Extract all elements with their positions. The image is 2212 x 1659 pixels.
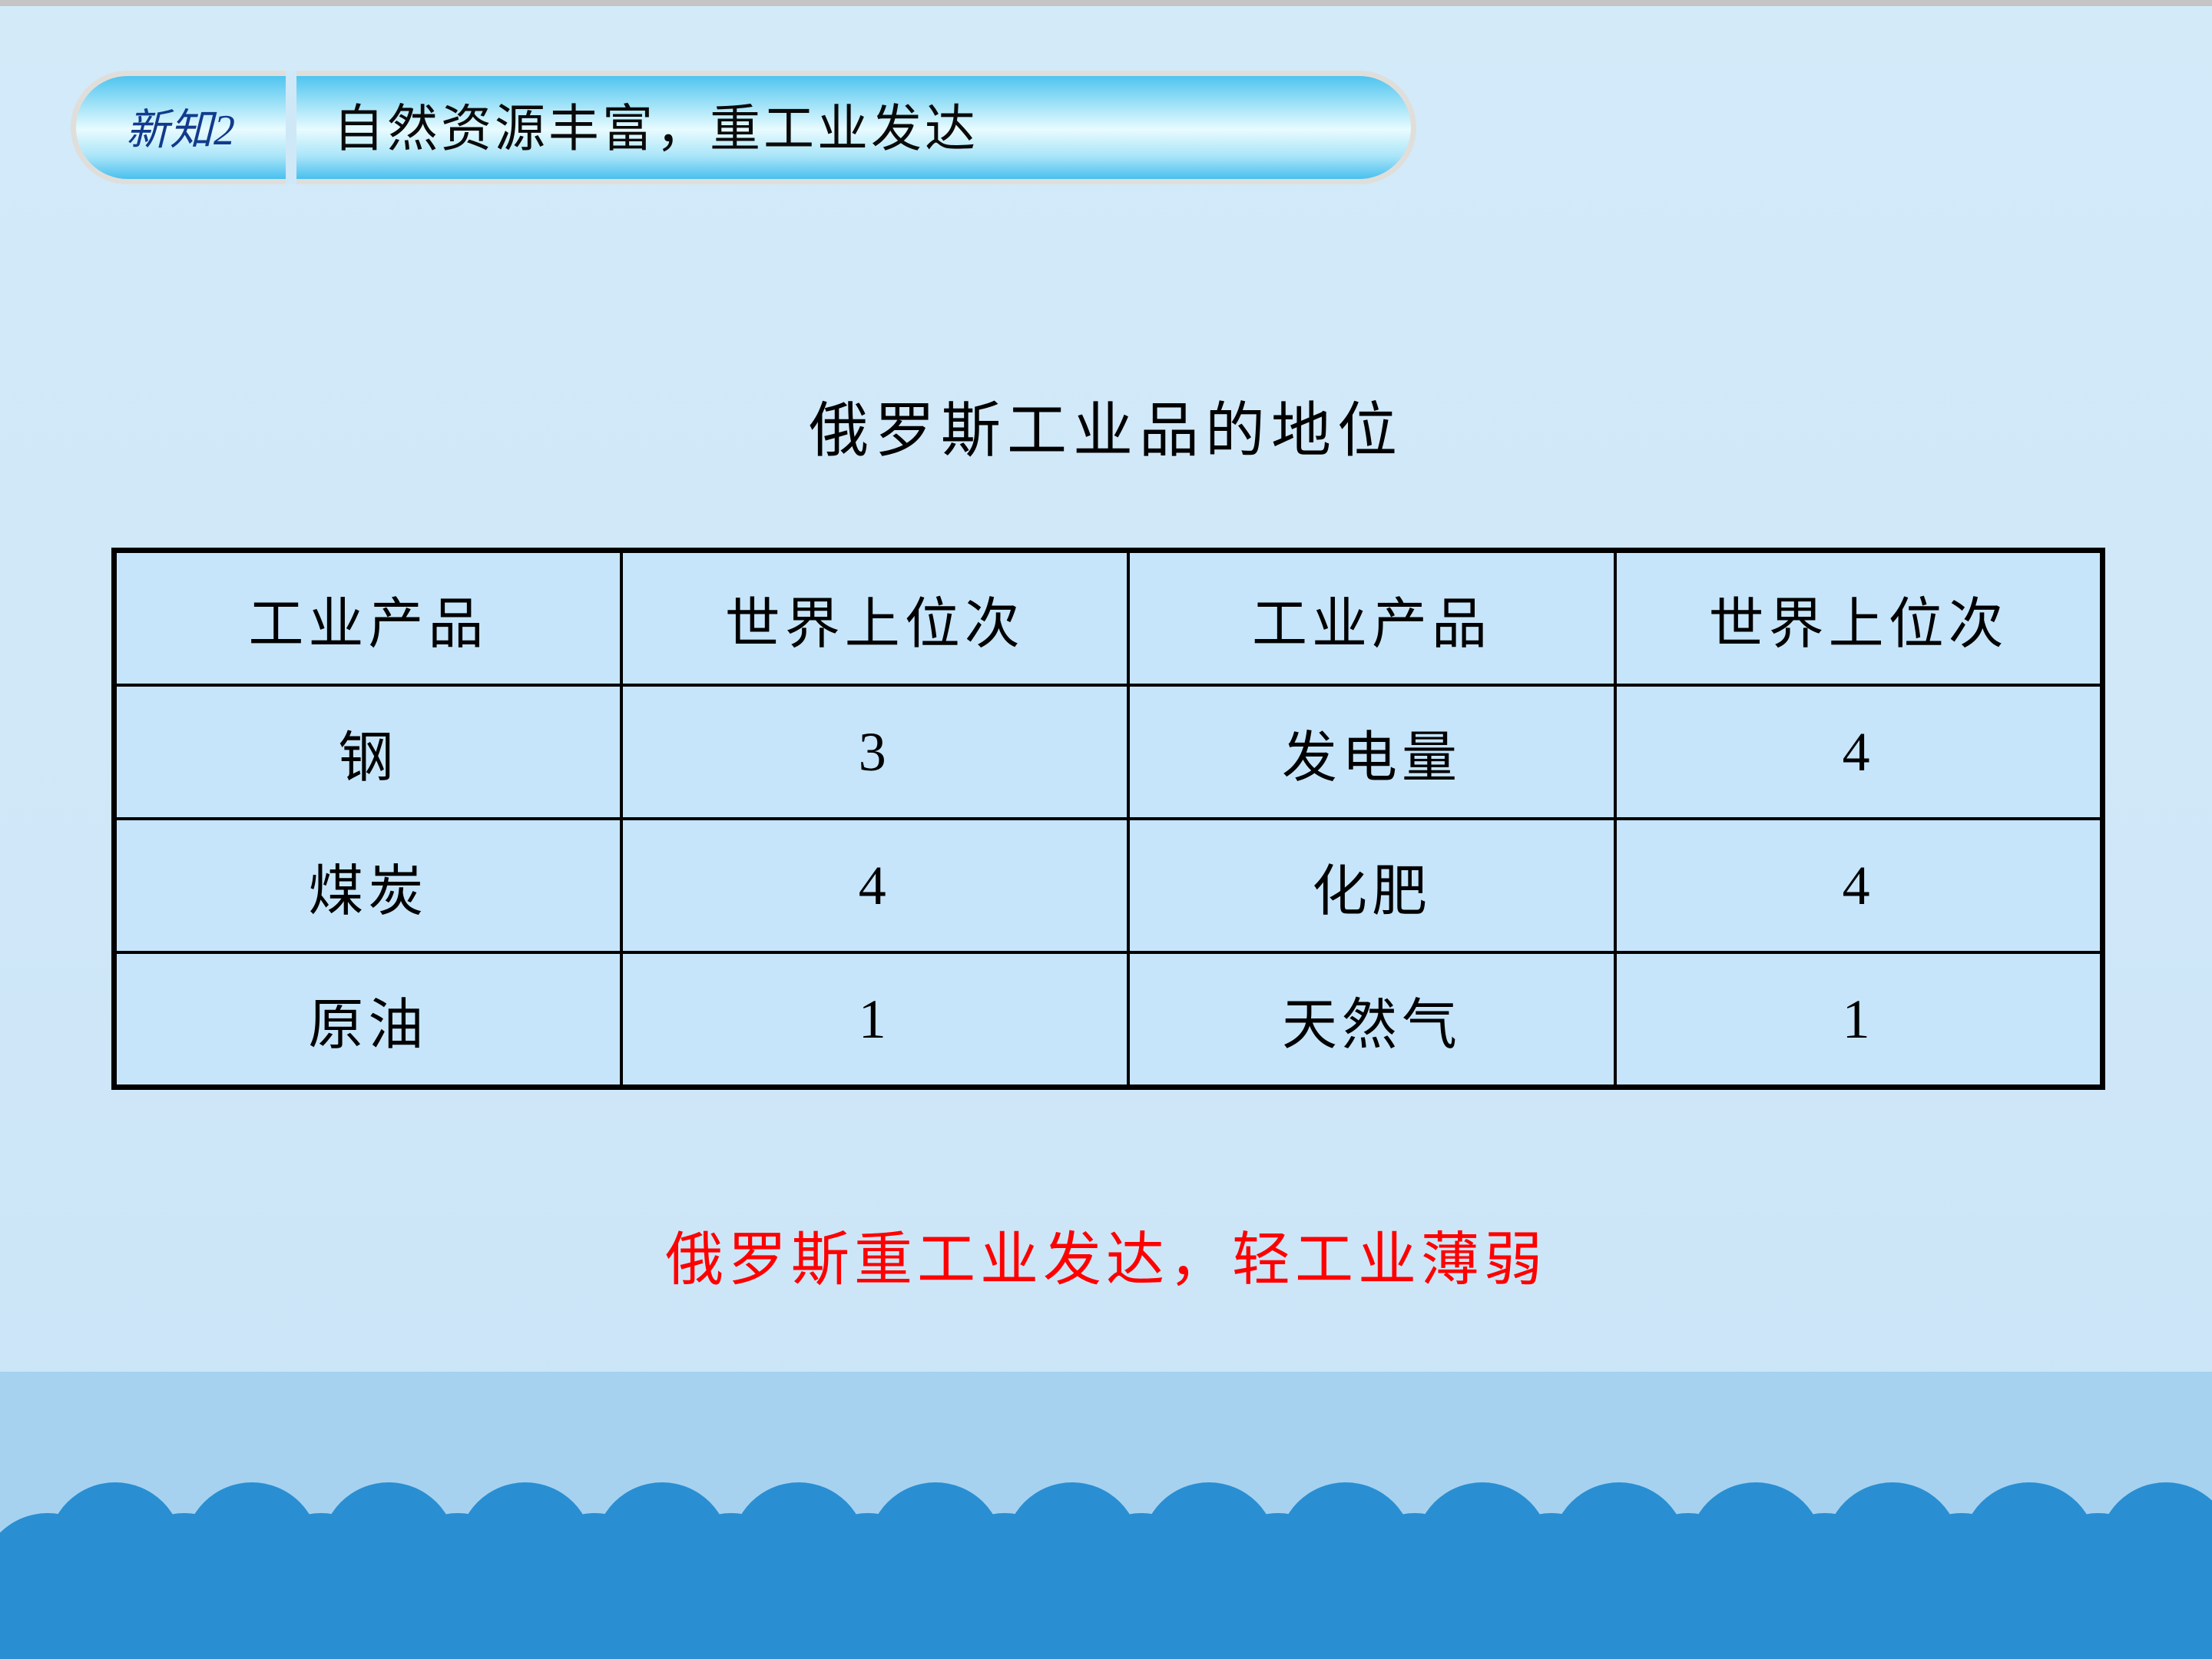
footer-dome-row-front: [0, 1582, 2212, 1659]
banner-title-text: 自然资源丰富，重工业发达: [333, 88, 979, 161]
footer-dome: [117, 1513, 252, 1659]
cell-product-right: 化肥: [1128, 819, 1615, 952]
footer-dome: [253, 1513, 389, 1659]
industrial-products-table: 工业产品 世界上位次 工业产品 世界上位次 钢 3 发电量 4 煤炭 4 化肥 …: [111, 548, 2105, 1090]
table-row: 原油 1 天然气 1: [114, 952, 2103, 1088]
page-title: 俄罗斯工业品的地位: [0, 382, 2212, 469]
cell-rank-right: 4: [1615, 819, 2102, 952]
footer-dome: [390, 1513, 525, 1659]
footer-dome: [0, 1513, 115, 1659]
cell-rank-left: 1: [621, 952, 1128, 1088]
footer-dome: [1894, 1513, 2029, 1659]
section-banner: 新知2 自然资源丰富，重工业发达: [71, 71, 1416, 184]
cell-product-left: 钢: [114, 685, 621, 819]
cell-rank-right: 1: [1615, 952, 2102, 1088]
column-header-product-right: 工业产品: [1128, 551, 1615, 686]
cell-rank-right: 4: [1615, 685, 2102, 819]
footer-dome: [1347, 1513, 1482, 1659]
column-header-product-left: 工业产品: [114, 551, 621, 686]
cell-product-right: 发电量: [1128, 685, 1615, 819]
footer-dome: [937, 1513, 1072, 1659]
footer-dome: [1484, 1513, 1619, 1659]
table-row: 煤炭 4 化肥 4: [114, 819, 2103, 952]
footer-dome: [1621, 1513, 1756, 1659]
banner-body[interactable]: 自然资源丰富，重工业发达: [296, 71, 1416, 184]
footer-dome: [1757, 1513, 1892, 1659]
footer-dome: [664, 1513, 799, 1659]
banner-badge[interactable]: 新知2: [71, 71, 286, 184]
cell-product-left: 煤炭: [114, 819, 621, 952]
column-header-rank-right: 世界上位次: [1615, 551, 2102, 686]
cell-rank-left: 3: [621, 685, 1128, 819]
footer-dome: [1210, 1513, 1346, 1659]
top-divider: [0, 0, 2212, 6]
footer-dome: [2031, 1513, 2166, 1659]
footer-decoration: [0, 1352, 2212, 1659]
conclusion-text: 俄罗斯重工业发达，轻工业薄弱: [0, 1212, 2212, 1296]
table-header-row: 工业产品 世界上位次 工业产品 世界上位次: [114, 551, 2103, 686]
column-header-rank-left: 世界上位次: [621, 551, 1128, 686]
footer-dome: [1074, 1513, 1209, 1659]
footer-dome: [800, 1513, 935, 1659]
banner-divider-gap: [286, 71, 296, 184]
table-row: 钢 3 发电量 4: [114, 685, 2103, 819]
footer-dome: [527, 1513, 662, 1659]
cell-product-left: 原油: [114, 952, 621, 1088]
table: 工业产品 世界上位次 工业产品 世界上位次 钢 3 发电量 4 煤炭 4 化肥 …: [111, 548, 2105, 1090]
banner-badge-label: 新知2: [126, 95, 236, 157]
slide-canvas: 新知2 自然资源丰富，重工业发达 俄罗斯工业品的地位 工业产品 世界上位次 工业…: [0, 0, 2212, 1659]
cell-product-right: 天然气: [1128, 952, 1615, 1088]
cell-rank-left: 4: [621, 819, 1128, 952]
